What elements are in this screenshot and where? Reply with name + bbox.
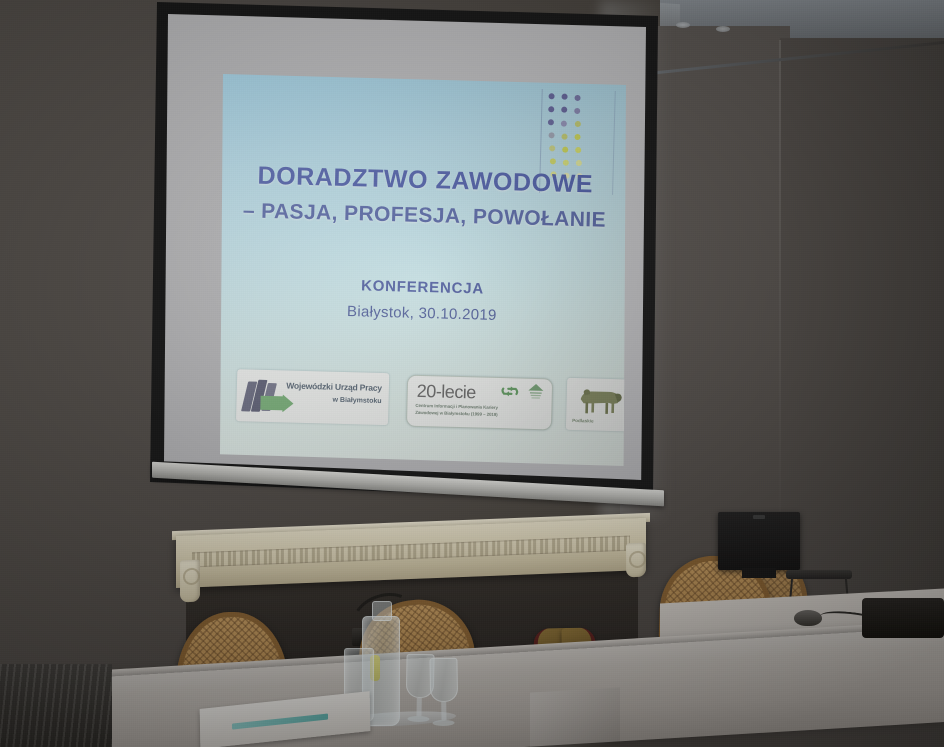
slide-title-line2: – PASJA, PROFESJA, POWOŁANIE (221, 199, 626, 234)
ceiling-downlight (676, 22, 690, 28)
tablecloth-fold (530, 687, 620, 747)
paper-band (232, 713, 328, 729)
webcam-icon (753, 515, 765, 519)
logo-wup-line2: w Białymstoku (286, 395, 382, 406)
screen-surface: DORADZTWO ZAWODOWE – PASJA, PROFESJA, PO… (164, 14, 646, 480)
slide-logo-band: Wojewódzki Urząd Pracy w Białymstoku 20-… (234, 367, 609, 433)
logo-podlaskie: Podlaskie (566, 378, 626, 432)
drinking-glass (405, 654, 432, 722)
slide-subtitle: KONFERENCJA (220, 274, 626, 302)
conference-room-photo: DORADZTWO ZAWODOWE – PASJA, PROFESJA, PO… (0, 0, 944, 747)
slide-title-block: DORADZTWO ZAWODOWE – PASJA, PROFESJA, PO… (221, 161, 626, 234)
mantel-corbel (180, 560, 200, 603)
logo-cipkz-headline: 20-lecie (417, 381, 477, 404)
slide-subtitle-block: KONFERENCJA Białystok, 30.10.2019 (220, 274, 626, 328)
side-table (786, 570, 852, 579)
carafe-neck (372, 601, 392, 621)
computer-mouse (794, 610, 822, 626)
logo-podlaskie-label: Podlaskie (572, 418, 594, 424)
computer-monitor (718, 512, 800, 570)
projection-screen: DORADZTWO ZAWODOWE – PASJA, PROFESJA, PO… (150, 2, 658, 502)
draped-dark-cloth (0, 664, 112, 747)
logo-wup: Wojewódzki Urząd Pracy w Białymstoku (236, 369, 389, 425)
recycle-icon (500, 384, 520, 399)
drinking-glass (429, 658, 456, 726)
presentation-slide: DORADZTWO ZAWODOWE – PASJA, PROFESJA, PO… (220, 74, 626, 466)
slide-place-date: Białystok, 30.10.2019 (220, 300, 625, 328)
bison-icon (572, 385, 626, 416)
logo-cipkz: 20-lecie (406, 375, 553, 431)
mantel-carved-frieze (192, 536, 630, 568)
laptop-bag (862, 598, 944, 638)
tree-icon (526, 383, 546, 401)
ceiling-downlight (716, 26, 730, 32)
logo-wup-line1: Wojewódzki Urząd Pracy (286, 381, 382, 393)
monitor-stand (742, 568, 776, 578)
mantel-corbel (626, 543, 646, 578)
